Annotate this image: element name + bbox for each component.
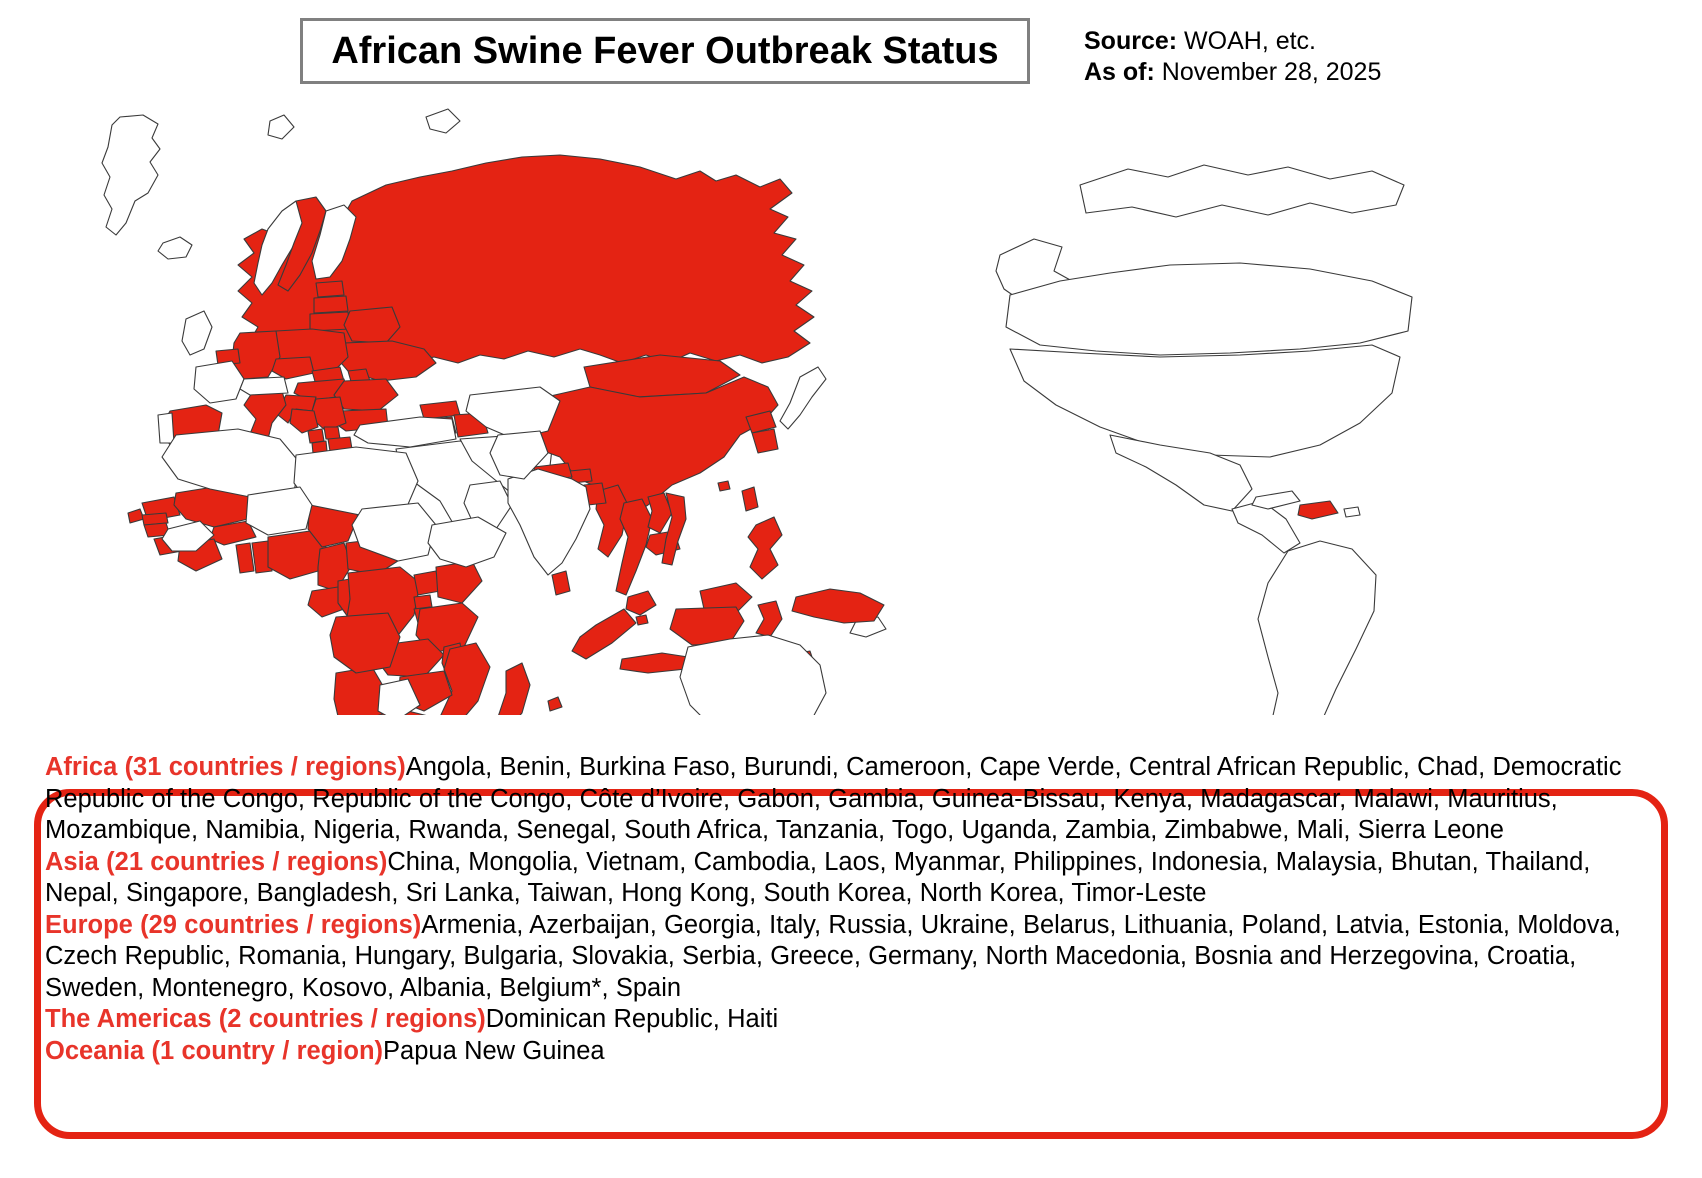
page-title: African Swine Fever Outbreak Status xyxy=(331,30,998,73)
portugal-shape xyxy=(158,413,174,443)
montenegro-shape xyxy=(308,429,324,443)
latvia-shape xyxy=(314,296,348,313)
togo-shape xyxy=(236,543,254,573)
legend-region-asia: Asia (21 countries / regions)China, Mong… xyxy=(45,847,1645,910)
region-countries-americas: Dominican Republic, Haiti xyxy=(486,1005,778,1033)
title-box: African Swine Fever Outbreak Status xyxy=(300,18,1030,84)
indonesia-java-shape xyxy=(620,653,688,673)
asof-label: As of: xyxy=(1084,58,1155,86)
hispaniola-shape xyxy=(1298,501,1338,519)
region-label-europe: Europe (29 countries / regions) xyxy=(45,911,421,939)
canada-arctic-shape xyxy=(1080,165,1404,217)
region-countries-oceania: Papua New Guinea xyxy=(383,1037,605,1065)
svalbard-shape xyxy=(268,115,294,139)
region-label-americas: The Americas (2 countries / regions) xyxy=(45,1005,486,1033)
madagascar-shape xyxy=(498,663,530,715)
czech-republic-shape xyxy=(272,357,314,379)
austria-switzerland-shape xyxy=(240,377,288,395)
indonesia-sulawesi-shape xyxy=(756,601,782,637)
india-shape xyxy=(508,469,590,575)
region-label-asia: Asia (21 countries / regions) xyxy=(45,848,387,876)
uk-ireland-shape xyxy=(182,311,212,355)
kenya-shape xyxy=(436,561,482,603)
world-map-svg xyxy=(0,105,1702,715)
novaya-zemlya-north-shape xyxy=(426,109,460,133)
asof-value: November 28, 2025 xyxy=(1162,58,1382,86)
region-label-africa: Africa (31 countries / regions) xyxy=(45,753,406,781)
romania-shape xyxy=(334,379,398,411)
legend-region-americas: The Americas (2 countries / regions)Domi… xyxy=(45,1004,1645,1036)
lithuania-shape xyxy=(310,312,350,331)
legend-region-list: Africa (31 countries / regions)Angola, B… xyxy=(45,752,1645,1067)
puerto-rico-shape xyxy=(1344,507,1360,517)
world-map xyxy=(0,105,1702,715)
usa-shape xyxy=(1010,345,1400,457)
taiwan-shape xyxy=(742,487,758,511)
west-sahel-shape xyxy=(246,487,312,535)
france-shape xyxy=(194,361,244,403)
bosnia-and-herzegovina-shape xyxy=(290,409,318,433)
papua-new-guinea-shape xyxy=(792,589,884,623)
south-america-shape xyxy=(1258,541,1376,715)
australia-shape xyxy=(680,635,826,715)
region-label-oceania: Oceania (1 country / region) xyxy=(45,1037,383,1065)
morocco-algeria-shape xyxy=(162,429,300,497)
mauritius-shape xyxy=(548,697,562,711)
japan-shape xyxy=(780,367,826,429)
source-block: Source: WOAH, etc. As of: November 28, 2… xyxy=(1084,26,1381,88)
sri-lanka-shape xyxy=(552,571,570,595)
hong-kong-shape xyxy=(718,481,730,491)
legend-region-oceania: Oceania (1 country / region)Papua New Gu… xyxy=(45,1036,1645,1068)
iceland-shape xyxy=(158,237,192,259)
angola-shape xyxy=(330,613,400,673)
source-line: Source: WOAH, etc. xyxy=(1084,26,1381,57)
legend-region-africa: Africa (31 countries / regions)Angola, B… xyxy=(45,752,1645,847)
malaysia-shape xyxy=(626,591,656,615)
legend-region-europe: Europe (29 countries / regions)Armenia, … xyxy=(45,910,1645,1005)
south-korea-shape xyxy=(752,429,778,453)
header: African Swine Fever Outbreak Status Sour… xyxy=(0,0,1702,110)
canada-mainland-shape xyxy=(1006,263,1412,355)
source-label: Source: xyxy=(1084,27,1177,55)
kosovo-shape xyxy=(324,427,340,439)
asof-line: As of: November 28, 2025 xyxy=(1084,57,1381,88)
singapore-shape xyxy=(636,615,648,625)
estonia-shape xyxy=(316,281,344,297)
greenland-shape xyxy=(102,115,160,235)
cape-verde-shape xyxy=(128,509,144,523)
indonesia-sumatra-shape xyxy=(572,609,636,659)
philippines-shape xyxy=(748,517,782,579)
source-value: WOAH, etc. xyxy=(1184,27,1316,55)
cuba-shape xyxy=(1252,491,1300,509)
